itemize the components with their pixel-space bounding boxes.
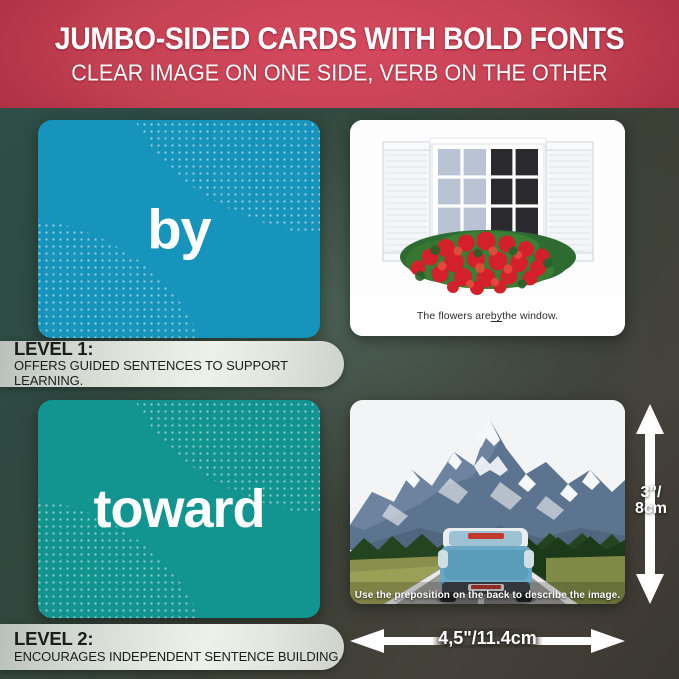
level-1-title: LEVEL 1: xyxy=(14,339,344,358)
word-card-toward: toward xyxy=(38,400,320,618)
caption-underlined-word: by xyxy=(491,310,502,322)
height-dimension-label: 3"/ 8cm xyxy=(626,485,676,517)
banner-subtitle: CLEAR IMAGE ON ONE SIDE, VERB ON THE OTH… xyxy=(71,60,608,87)
word-card-by: by xyxy=(38,120,320,338)
width-value: 4,5"/11.4cm xyxy=(432,628,543,648)
level-2-description: ENCOURAGES INDEPENDENT SENTENCE BUILDING… xyxy=(14,650,344,665)
header-banner: JUMBO-SIDED CARDS WITH BOLD FONTS CLEAR … xyxy=(0,0,679,108)
caption-after: the window. xyxy=(502,310,558,322)
level-2-title: LEVEL 2: xyxy=(14,629,344,648)
card-caption-window: The flowers are by the window. xyxy=(350,296,625,336)
window-illustration xyxy=(350,120,625,296)
caption-before: The flowers are xyxy=(417,310,491,322)
level-1-description: OFFERS GUIDED SENTENCES TO SUPPORT LEARN… xyxy=(14,359,344,389)
window-photo xyxy=(350,120,625,296)
width-dimension-label: 4,5"/11.4cm xyxy=(350,628,625,649)
mountain-photo xyxy=(350,400,625,604)
height-value-inches: 3"/ xyxy=(626,485,676,501)
card-caption-mountain: Use the preposition on the back to descr… xyxy=(350,590,625,601)
banner-title: JUMBO-SIDED CARDS WITH BOLD FONTS xyxy=(55,21,624,57)
photo-card-window: The flowers are by the window. xyxy=(350,120,625,336)
photo-card-mountain: Use the preposition on the back to descr… xyxy=(350,400,625,604)
word-label-by: by xyxy=(38,197,320,262)
level-badge-2: LEVEL 2: ENCOURAGES INDEPENDENT SENTENCE… xyxy=(0,624,344,670)
height-value-cm: 8cm xyxy=(626,501,676,517)
level-badge-1: LEVEL 1: OFFERS GUIDED SENTENCES TO SUPP… xyxy=(0,341,344,387)
product-infographic: JUMBO-SIDED CARDS WITH BOLD FONTS CLEAR … xyxy=(0,0,679,679)
mountain-illustration xyxy=(350,400,625,604)
word-label-toward: toward xyxy=(38,478,320,540)
